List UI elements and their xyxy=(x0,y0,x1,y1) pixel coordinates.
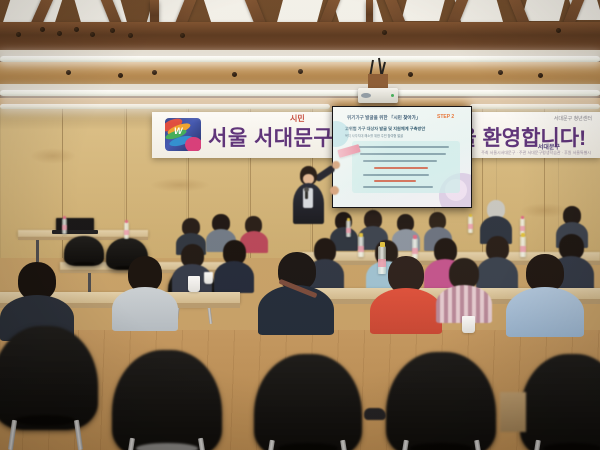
shoe xyxy=(364,408,386,420)
ceiling-light xyxy=(470,104,600,109)
water-bottle xyxy=(346,220,351,237)
skylight-gap xyxy=(332,0,383,24)
chair-back xyxy=(0,326,98,430)
bottle-cap xyxy=(413,235,417,239)
beam-bolt xyxy=(128,33,133,38)
banner-footer-text: 주최 서울시서대문구 · 주관 서대문구평생학습관 · 후원 서울특별시 xyxy=(481,150,591,156)
wall-grain-mark xyxy=(30,148,76,164)
ceiling-light xyxy=(0,90,600,96)
beam-bolt xyxy=(382,30,387,35)
audience-member xyxy=(0,262,74,336)
bottle-label xyxy=(124,230,129,235)
wall-grain-mark xyxy=(150,178,210,192)
banner-main-text: 서울 서대문구 xyxy=(208,122,333,152)
beam-bolt xyxy=(298,69,303,74)
water-bottle xyxy=(468,216,473,233)
beam-bolt xyxy=(232,72,237,77)
banner-organization-mark: 서대문구 청년센터 xyxy=(554,116,592,123)
bottle-cap xyxy=(63,216,66,219)
paper-cup xyxy=(462,316,475,333)
bottle-label xyxy=(412,248,418,254)
event-logo-icon: W xyxy=(165,118,201,151)
beam-bolt xyxy=(110,28,115,33)
bottle-cap xyxy=(125,220,128,223)
beam-bolt xyxy=(118,73,123,78)
ceiling-light xyxy=(0,56,600,62)
audience-member xyxy=(214,240,254,290)
chair-slot xyxy=(73,262,95,265)
beam-bolt xyxy=(90,32,95,37)
ceiling-projector xyxy=(358,88,398,103)
beam-bolt xyxy=(74,27,79,32)
beam-bolt xyxy=(538,73,543,78)
skylight-gap xyxy=(401,0,445,21)
paper-bag xyxy=(500,392,526,432)
chair-slot xyxy=(410,443,472,450)
bottle-cap xyxy=(521,216,524,219)
foreground-chair[interactable] xyxy=(386,352,496,450)
bottle-label xyxy=(358,246,364,252)
audience-member xyxy=(258,252,334,330)
audience-member xyxy=(436,258,492,320)
chair-slot xyxy=(543,443,600,450)
bottle-label xyxy=(378,259,386,267)
conference-room-photo: W 시민 서울 서대문구 문을 환영합니다! 서대문구 청년센터 서대문구 주최… xyxy=(0,0,600,450)
chair-slot xyxy=(15,415,74,425)
audience-member xyxy=(112,256,178,326)
foreground-chair[interactable] xyxy=(0,326,98,430)
bottle-label xyxy=(346,228,351,233)
foreground-chair[interactable] xyxy=(254,354,362,450)
bottle-label xyxy=(520,226,525,231)
screen-glare xyxy=(333,107,471,207)
projection-screen: 위기가구 발굴을 위한 「시민 찾아가」 STEP 2 고위험 가구 대상자 발… xyxy=(332,106,472,208)
presenter xyxy=(288,166,332,224)
bottle-label xyxy=(520,246,526,252)
presentation-slide: 위기가구 발굴을 위한 「시민 찾아가」 STEP 2 고위험 가구 대상자 발… xyxy=(333,107,471,207)
beam-bolt xyxy=(498,70,503,75)
laptop-base xyxy=(52,230,98,234)
torso xyxy=(112,287,178,331)
torso xyxy=(258,285,334,335)
water-bottle xyxy=(124,222,129,239)
audience-member xyxy=(506,254,584,332)
beam-bolt xyxy=(152,70,157,75)
torso xyxy=(214,261,254,293)
water-bottle xyxy=(62,218,67,234)
skylight-gap xyxy=(277,0,323,22)
paper-cup xyxy=(204,272,213,284)
bottle-label xyxy=(468,224,473,229)
bottle-cap xyxy=(469,214,472,217)
beam-bolt xyxy=(16,32,21,37)
water-bottle xyxy=(358,236,364,257)
chair-back xyxy=(112,350,222,450)
paper-cup xyxy=(188,276,200,292)
chair-slot xyxy=(136,443,198,450)
beam-bolt xyxy=(57,31,62,36)
chair-back xyxy=(386,352,496,450)
torso xyxy=(370,288,442,334)
beam-bolt xyxy=(408,72,413,77)
bottle-label xyxy=(62,225,67,230)
chair-back xyxy=(520,354,600,450)
bottle-cap xyxy=(521,233,525,237)
beam-bolt xyxy=(66,70,71,75)
beam-bolt xyxy=(180,33,185,38)
bottle-cap xyxy=(347,218,350,221)
beam-bolt xyxy=(556,28,561,33)
bottle-cap xyxy=(359,233,363,237)
foreground-chair[interactable] xyxy=(112,350,222,450)
chair-slot xyxy=(278,443,338,450)
foreground-chair[interactable] xyxy=(520,354,600,450)
bottle-cap xyxy=(380,242,385,247)
projector-mount xyxy=(368,74,388,89)
table-leg xyxy=(36,240,39,262)
ceiling-light xyxy=(0,104,330,109)
chair-back xyxy=(254,354,362,450)
presenter-hand xyxy=(330,186,339,195)
beam-bolt xyxy=(40,27,45,32)
torso xyxy=(506,287,584,337)
water-bottle xyxy=(378,246,386,274)
